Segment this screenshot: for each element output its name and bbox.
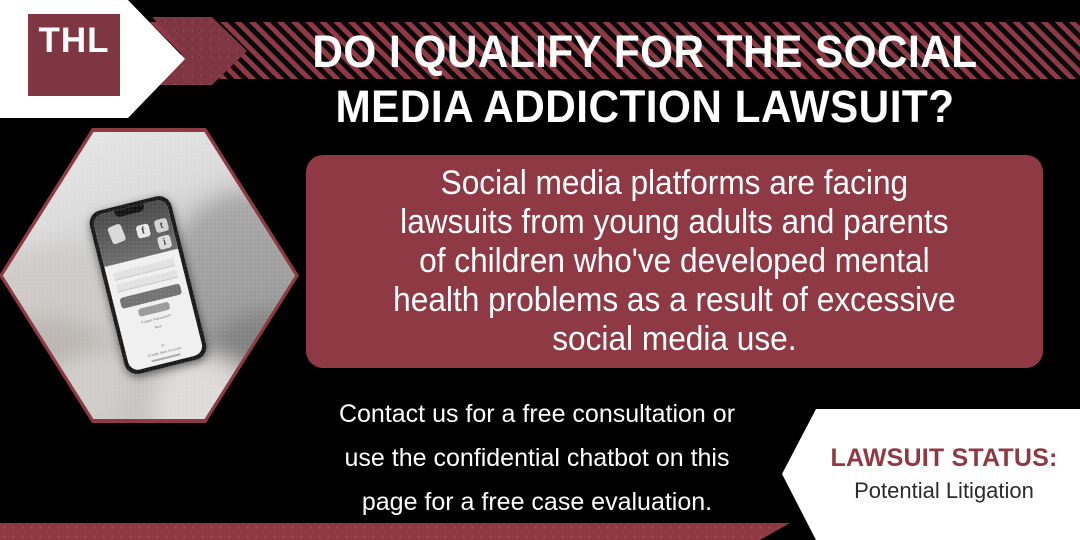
status-value: Potential Litigation (854, 477, 1034, 506)
contact-line-1: Contact us for a free consultation or (292, 392, 782, 436)
contact-line-2: use the confidential chatbot on this (292, 436, 782, 480)
status-label: LAWSUIT STATUS: (830, 444, 1057, 473)
bottom-accent-strip (0, 523, 820, 540)
photo-grain-overlay (3, 132, 295, 419)
infographic-banner: DO I QUALIFY FOR THE SOCIAL MEDIA ADDICT… (0, 0, 1080, 540)
statement-line-4: health problems as a result of excessive (393, 281, 955, 320)
contact-line-3: page for a free case evaluation. (292, 480, 782, 524)
thl-monogram-icon[interactable]: THL (28, 14, 120, 96)
page-title-line-2: MEDIA ADDICTION LAWSUIT? (274, 79, 1017, 134)
hero-photo: f t i Forgot Password? Now or Create New… (3, 132, 295, 419)
hero-photo-frame: f t i Forgot Password? Now or Create New… (0, 128, 299, 423)
statement-line-1: Social media platforms are facing (393, 164, 955, 203)
statement-line-2: lawsuits from young adults and parents (393, 203, 955, 242)
statement-text: Social media platforms are facing lawsui… (382, 164, 967, 359)
statement-box: Social media platforms are facing lawsui… (306, 155, 1043, 368)
page-title-line-1: DO I QUALIFY FOR THE SOCIAL (274, 24, 1017, 79)
contact-text: Contact us for a free consultation or us… (292, 392, 782, 524)
statement-line-5: social media use. (393, 320, 955, 359)
statement-line-3: of children who've developed mental (393, 242, 955, 281)
status-badge: LAWSUIT STATUS: Potential Litigation (782, 409, 1080, 540)
logo-text: THL (38, 23, 109, 58)
page-title: DO I QUALIFY FOR THE SOCIAL MEDIA ADDICT… (274, 24, 1017, 134)
